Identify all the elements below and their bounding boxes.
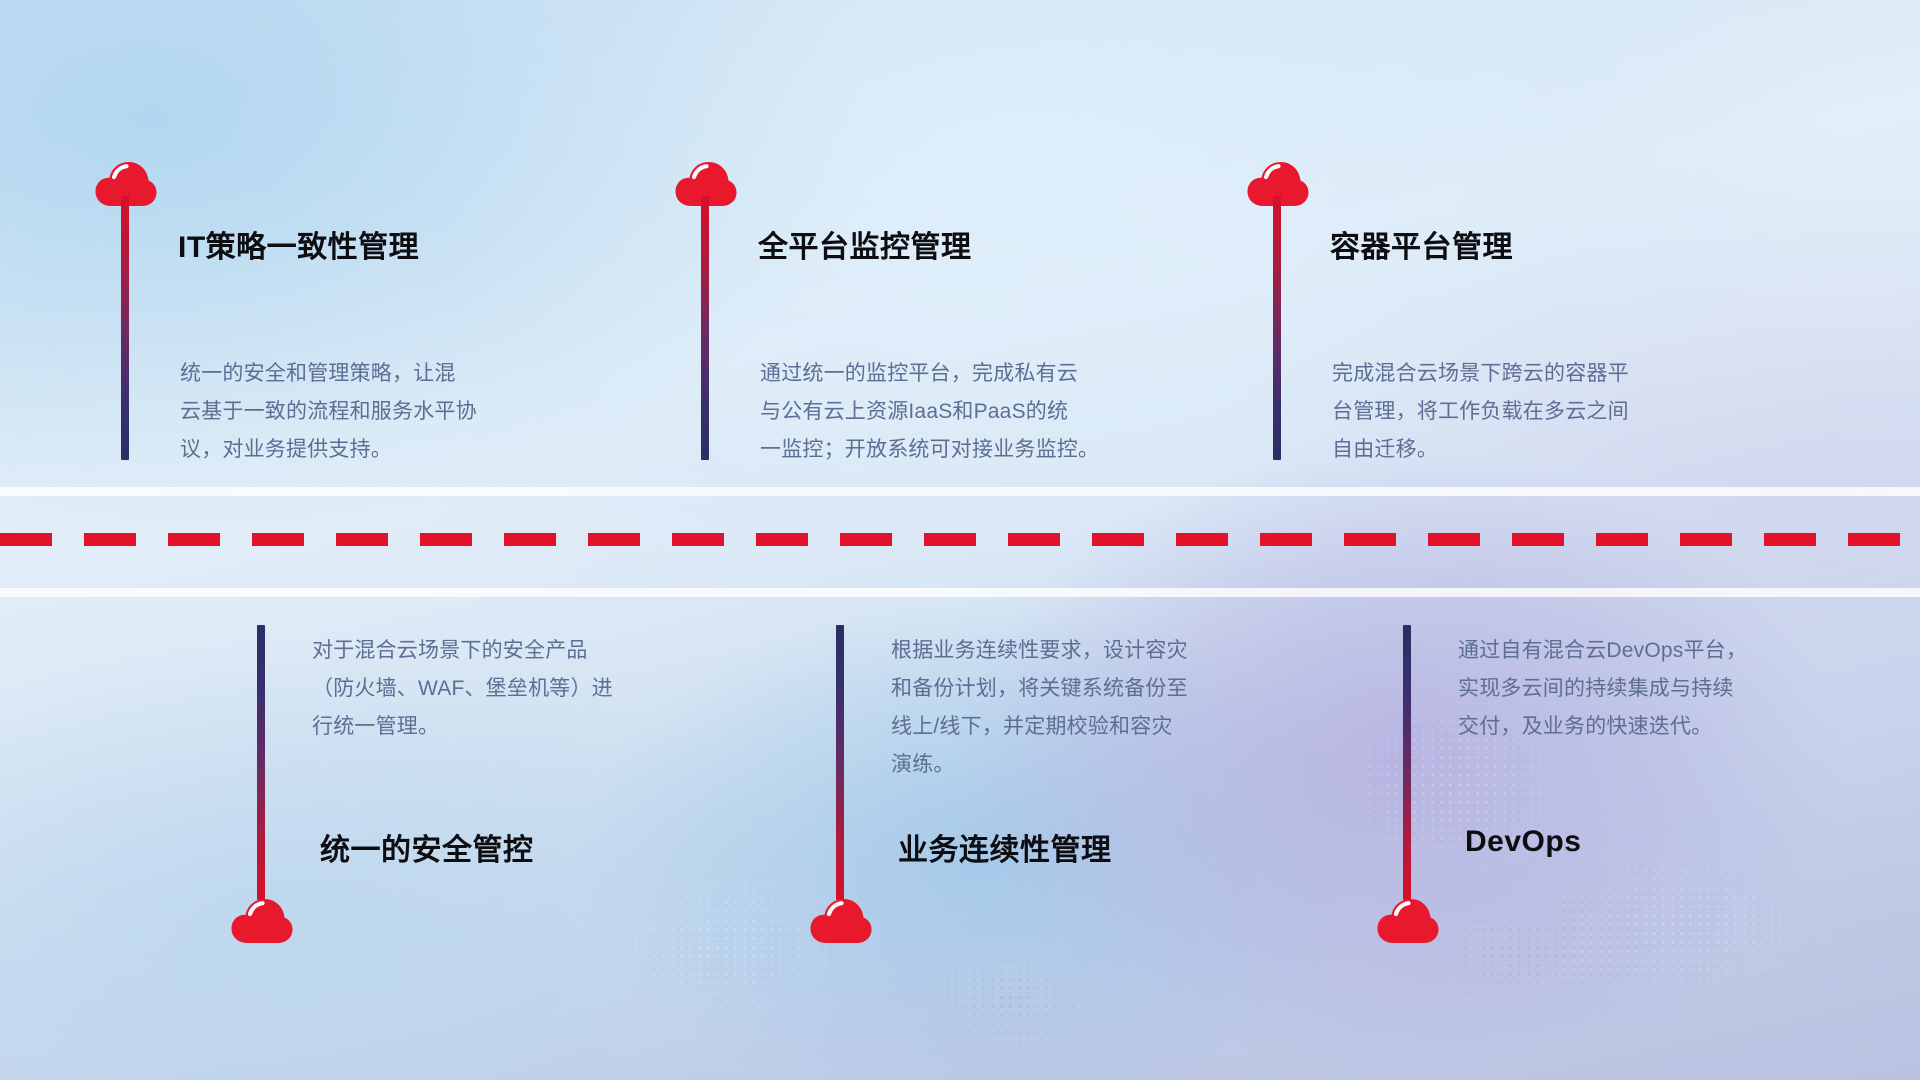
card-heading: 统一的安全管控 xyxy=(320,825,534,869)
dot-texture-decoration xyxy=(1560,830,1860,1020)
cloud-icon xyxy=(231,897,293,945)
connector-stem xyxy=(1403,625,1411,900)
section-divider xyxy=(0,487,1920,597)
connector-stem xyxy=(701,196,709,460)
card-body-text: 完成混合云场景下跨云的容器平 台管理，将工作负载在多云之间 自由迁移。 xyxy=(1332,355,1772,469)
card-body-text: 通过统一的监控平台，完成私有云 与公有云上资源IaaS和PaaS的统 一监控；开… xyxy=(760,355,1230,469)
card-heading: DevOps xyxy=(1465,825,1581,859)
connector-stem xyxy=(257,625,265,900)
dashed-separator-line xyxy=(0,533,1920,546)
card-heading: IT策略一致性管理 xyxy=(178,222,419,266)
cloud-icon xyxy=(810,897,872,945)
connector-stem xyxy=(121,196,129,460)
card-heading: 全平台监控管理 xyxy=(758,222,972,266)
infographic-canvas: IT策略一致性管理 统一的安全和管理策略，让混 云基于一致的流程和服务水平协 议… xyxy=(0,0,1920,1080)
divider-bar-top xyxy=(0,487,1920,496)
cloud-icon xyxy=(1377,897,1439,945)
divider-bar-bottom xyxy=(0,588,1920,597)
card-body-text: 根据业务连续性要求，设计容灾 和备份计划，将关键系统备份至 线上/线下，并定期校… xyxy=(891,632,1341,784)
card-heading: 业务连续性管理 xyxy=(898,825,1112,869)
dot-texture-decoration-red xyxy=(880,930,1140,1070)
connector-stem xyxy=(836,625,844,900)
card-body-text: 统一的安全和管理策略，让混 云基于一致的流程和服务水平协 议，对业务提供支持。 xyxy=(180,355,620,469)
card-heading: 容器平台管理 xyxy=(1330,222,1513,266)
card-body-text: 通过自有混合云DevOps平台， 实现多云间的持续集成与持续 交付，及业务的快速… xyxy=(1458,632,1898,746)
card-body-text: 对于混合云场景下的安全产品 （防火墙、WAF、堡垒机等）进 行统一管理。 xyxy=(312,632,752,746)
dashed-separator-fill xyxy=(0,533,1920,546)
connector-stem xyxy=(1273,196,1281,460)
